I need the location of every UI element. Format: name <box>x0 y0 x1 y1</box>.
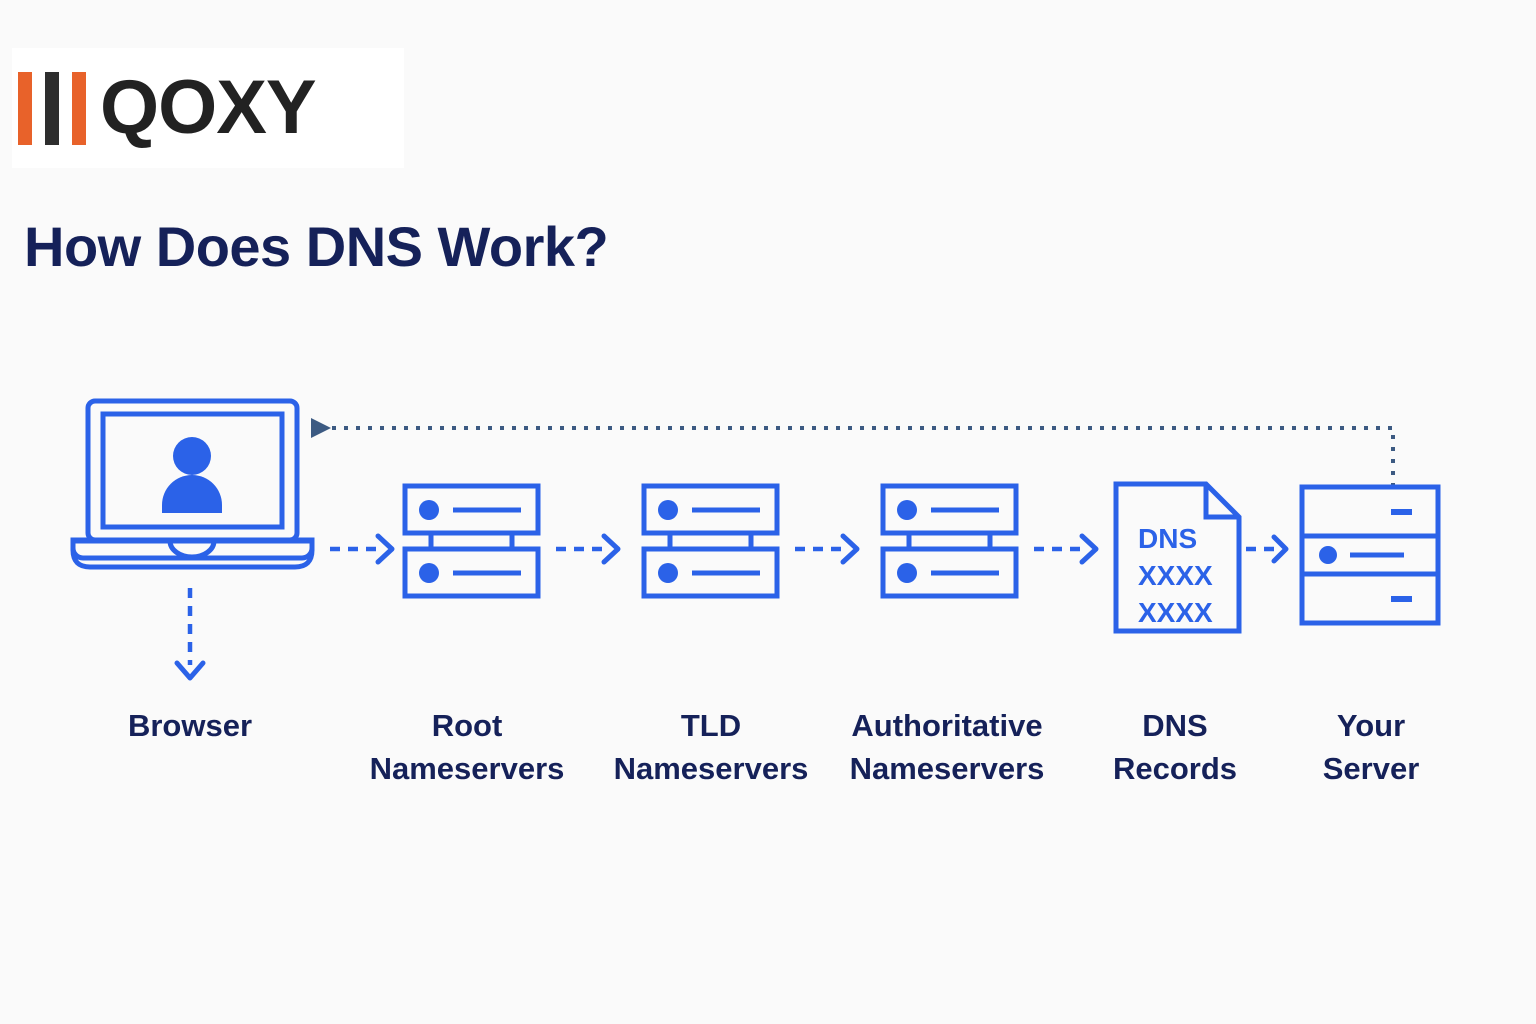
node-label-authoritative-nameservers: Authoritative Nameservers <box>836 705 1058 791</box>
server-stack-icon-tld <box>644 486 777 596</box>
node-label-records-line2: Records <box>1080 748 1270 791</box>
document-text-line-1: DNS <box>1138 521 1238 558</box>
node-label-server-line1: Your <box>1337 708 1405 743</box>
node-label-authoritative-line2: Nameservers <box>836 748 1058 791</box>
node-label-browser-line1: Browser <box>128 708 252 743</box>
connector-root-to-tld <box>556 536 618 562</box>
node-label-root-line2: Nameservers <box>356 748 578 791</box>
server-stack-icon-authoritative <box>883 486 1016 596</box>
node-label-records-line1: DNS <box>1142 708 1207 743</box>
document-text-block: DNS XXXX XXXX <box>1138 521 1238 632</box>
connector-browser-down <box>177 588 203 678</box>
node-label-tld-nameservers: TLD Nameservers <box>600 705 822 791</box>
node-label-server-line2: Server <box>1278 748 1464 791</box>
node-label-root-line1: Root <box>432 708 503 743</box>
connector-return-server-to-browser <box>311 418 1393 487</box>
node-label-your-server: Your Server <box>1278 705 1464 791</box>
connector-records-to-server <box>1246 537 1286 561</box>
node-label-root-nameservers: Root Nameservers <box>356 705 578 791</box>
document-text-line-2: XXXX <box>1138 558 1238 595</box>
node-label-authoritative-line1: Authoritative <box>851 708 1042 743</box>
document-text-line-3: XXXX <box>1138 595 1238 632</box>
user-avatar-glyph <box>162 437 222 513</box>
node-label-dns-records: DNS Records <box>1080 705 1270 791</box>
connector-browser-to-root <box>330 536 392 562</box>
connector-authoritative-to-records <box>1034 536 1096 562</box>
node-label-tld-line2: Nameservers <box>600 748 822 791</box>
node-label-tld-line1: TLD <box>681 708 741 743</box>
connector-tld-to-authoritative <box>795 536 857 562</box>
server-stack-icon-root <box>405 486 538 596</box>
node-label-browser: Browser <box>90 705 290 748</box>
dns-flow-diagram <box>0 0 1536 1024</box>
server-rack-icon-your-server <box>1302 487 1438 623</box>
